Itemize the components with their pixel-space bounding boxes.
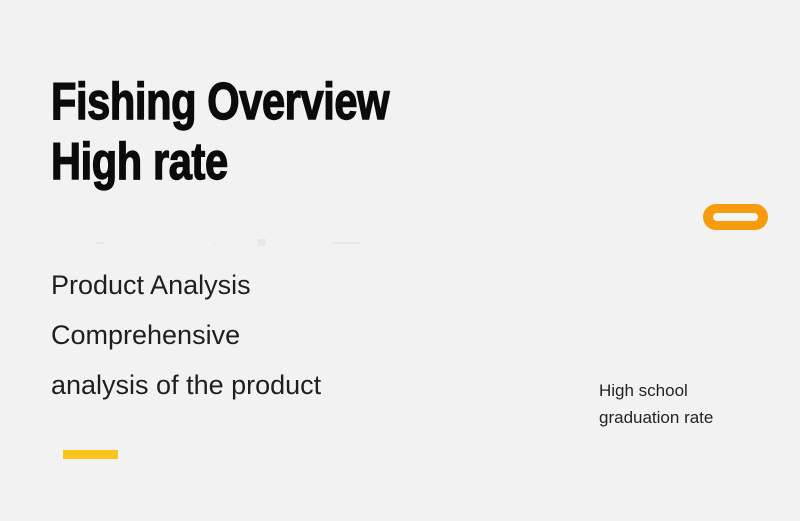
pill-slot-icon [713, 213, 758, 221]
caption-line-2: graduation rate [599, 404, 789, 431]
accent-bar [63, 450, 118, 459]
ghost-mark [213, 242, 218, 244]
body-text-line-3: analysis of the product [51, 360, 471, 410]
page-title-line-2: High rate [51, 132, 387, 192]
caption-line-1: High school [599, 377, 789, 404]
caption-block: High school graduation rate [599, 377, 789, 431]
ghost-mark [95, 242, 104, 244]
body-text-block: Product Analysis Comprehensive analysis … [51, 260, 471, 410]
ghost-mark [258, 239, 266, 246]
ghost-mark [333, 242, 359, 244]
page-title: Fishing Overview High rate [51, 72, 471, 192]
slide-canvas: Fishing Overview High rate Product Analy… [0, 0, 800, 521]
ghost-artifact-row [53, 236, 373, 250]
body-text-line-2: Comprehensive [51, 310, 471, 360]
page-title-line-1: Fishing Overview [51, 72, 387, 132]
rounded-pill-icon [703, 204, 768, 230]
body-text-line-1: Product Analysis [51, 260, 471, 310]
